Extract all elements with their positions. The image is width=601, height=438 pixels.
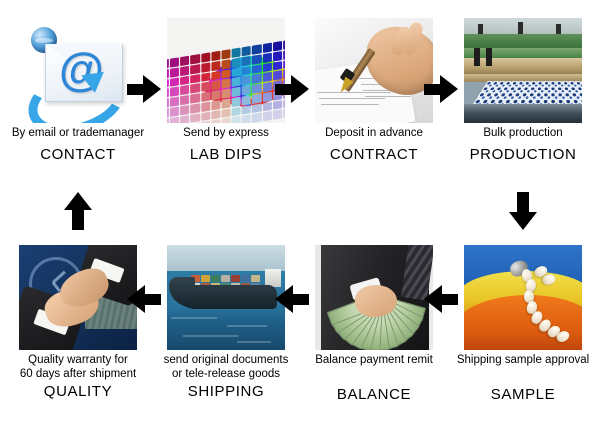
swatch-cell bbox=[242, 46, 251, 56]
swatch-cell bbox=[283, 39, 285, 49]
swatch-cell bbox=[180, 65, 189, 75]
step-caption: Bulk production bbox=[449, 127, 597, 141]
step-caption-line1: Quality warranty for bbox=[4, 354, 152, 368]
step-caption: Shipping sample approval bbox=[449, 354, 597, 368]
swatch-cell bbox=[232, 48, 241, 58]
swatch-cell bbox=[167, 69, 169, 79]
swatch-cell bbox=[221, 49, 230, 59]
swatch-cell bbox=[262, 101, 271, 111]
swatch-cell bbox=[170, 106, 179, 116]
swatch-cell bbox=[191, 54, 200, 64]
swatch-cell bbox=[191, 103, 200, 113]
swatch-cell bbox=[191, 93, 200, 103]
swatch-cell bbox=[170, 67, 179, 77]
swatch-cell bbox=[211, 119, 220, 123]
step-caption: By email or trademanager bbox=[4, 127, 152, 141]
color-swatch-fan-icon bbox=[167, 18, 285, 123]
hand-with-cash-icon bbox=[315, 245, 433, 350]
swatch-cell bbox=[252, 64, 261, 74]
swatch-cell bbox=[170, 57, 179, 67]
swatch-cell bbox=[180, 105, 189, 115]
swatch-cell bbox=[211, 100, 220, 110]
swatch-cell bbox=[242, 65, 251, 75]
swatch-cell bbox=[211, 51, 220, 61]
swatch-cell bbox=[201, 52, 210, 62]
machine-roller bbox=[464, 104, 582, 123]
swatch-cell bbox=[167, 59, 169, 69]
swatch-cell bbox=[232, 57, 241, 67]
swatch-cell bbox=[262, 62, 271, 72]
swatch-cell bbox=[232, 67, 241, 77]
swatch-cell bbox=[191, 113, 200, 123]
swatch-cell bbox=[221, 69, 230, 79]
swatch-cell bbox=[180, 85, 189, 95]
swatch-cell bbox=[252, 74, 261, 84]
swatch-cell bbox=[232, 106, 241, 116]
swatch-cell bbox=[252, 54, 261, 64]
step-sample[interactable]: Shipping sample approval SAMPLE bbox=[449, 245, 597, 403]
swatch-cell bbox=[221, 108, 230, 118]
swatch-cell bbox=[242, 114, 251, 123]
textile-printing-machine-icon bbox=[464, 18, 582, 123]
swatch-cell bbox=[180, 95, 189, 105]
swatch-cell bbox=[273, 61, 282, 71]
swatch-cell bbox=[170, 96, 179, 106]
swatch-cell bbox=[221, 98, 230, 108]
swatch-cell bbox=[211, 70, 220, 80]
step-title: SAMPLE bbox=[449, 386, 597, 403]
swatch-cell bbox=[232, 116, 241, 123]
swatch-cell bbox=[191, 83, 200, 93]
swatch-cell bbox=[201, 121, 210, 123]
swatch-cell bbox=[201, 101, 210, 111]
step-title: CONTRACT bbox=[300, 146, 448, 163]
step-title: SHIPPING bbox=[152, 383, 300, 400]
step-caption: Send by express bbox=[152, 127, 300, 141]
swatch-cell bbox=[211, 61, 220, 71]
orange-fabric bbox=[464, 295, 582, 350]
step-caption: Balance payment remit bbox=[300, 354, 448, 368]
step-caption-line2: 60 days after shipment bbox=[4, 368, 152, 382]
swatch-cell bbox=[170, 77, 179, 87]
swatch-cell bbox=[221, 118, 230, 123]
swatch-cell bbox=[283, 108, 285, 118]
process-flow-diagram: @ By email or trademanager CONTACT Send … bbox=[0, 0, 601, 438]
swatch-cell bbox=[252, 44, 261, 54]
swatch-cell bbox=[167, 118, 169, 123]
swatch-cell bbox=[242, 85, 251, 95]
swatch-cell bbox=[242, 56, 251, 66]
swatch-cell bbox=[232, 77, 241, 87]
step-balance[interactable]: Balance payment remit BALANCE bbox=[300, 245, 448, 403]
swatch-cell bbox=[262, 111, 271, 121]
arrow-quality-to-contact bbox=[64, 192, 92, 230]
swatch-cell bbox=[167, 88, 169, 98]
container-ship-icon bbox=[167, 245, 285, 350]
swatch-cell bbox=[211, 80, 220, 90]
swatch-cell bbox=[201, 62, 210, 72]
step-caption-line2: or tele-release goods bbox=[152, 368, 300, 382]
swatch-cell bbox=[262, 72, 271, 82]
swatch-cell bbox=[262, 52, 271, 62]
swatch-cell bbox=[262, 82, 271, 92]
step-title: LAB DIPS bbox=[152, 146, 300, 163]
step-title: QUALITY bbox=[4, 383, 152, 400]
step-quality[interactable]: Quality warranty for 60 days after shipm… bbox=[4, 245, 152, 400]
swatch-cell bbox=[221, 79, 230, 89]
swatch-cell bbox=[283, 59, 285, 69]
swatch-cell bbox=[211, 90, 220, 100]
swatch-cell bbox=[242, 105, 251, 115]
swatch-grid bbox=[167, 39, 285, 123]
swatch-cell bbox=[221, 88, 230, 98]
step-title: BALANCE bbox=[300, 386, 448, 403]
swatch-cell bbox=[180, 114, 189, 123]
swatch-cell bbox=[252, 103, 261, 113]
email-at-icon: @ bbox=[19, 18, 137, 123]
swatch-cell bbox=[283, 49, 285, 59]
step-shipping[interactable]: send original documents or tele-release … bbox=[152, 245, 300, 400]
swatch-cell bbox=[191, 64, 200, 74]
swatch-cell bbox=[170, 116, 179, 123]
swatch-cell bbox=[273, 51, 282, 61]
swatch-cell bbox=[191, 74, 200, 84]
swatch-cell bbox=[232, 97, 241, 107]
swatch-cell bbox=[262, 43, 271, 53]
swatch-cell bbox=[201, 72, 210, 82]
swatch-cell bbox=[167, 78, 169, 88]
signing-document-icon bbox=[315, 18, 433, 123]
step-title: CONTACT bbox=[4, 146, 152, 163]
arrow-production-to-sample bbox=[509, 192, 537, 230]
swatch-cell bbox=[221, 59, 230, 69]
swatch-cell bbox=[167, 98, 169, 108]
swatch-cell bbox=[232, 87, 241, 97]
swatch-cell bbox=[262, 92, 271, 102]
swatch-cell bbox=[252, 113, 261, 123]
fabric-shell-necklace-icon bbox=[464, 245, 582, 350]
handshake-clock-icon bbox=[19, 245, 137, 350]
step-caption-line1: send original documents bbox=[152, 354, 300, 368]
swatch-cell bbox=[252, 93, 261, 103]
swatch-cell bbox=[180, 75, 189, 85]
swatch-cell bbox=[167, 108, 169, 118]
swatch-cell bbox=[273, 110, 282, 120]
swatch-cell bbox=[242, 95, 251, 105]
swatch-cell bbox=[170, 87, 179, 97]
swatch-cell bbox=[201, 111, 210, 121]
swatch-cell bbox=[180, 56, 189, 66]
step-title: PRODUCTION bbox=[449, 146, 597, 163]
swatch-cell bbox=[201, 92, 210, 102]
swatch-cell bbox=[273, 41, 282, 51]
swatch-cell bbox=[252, 83, 261, 93]
swatch-cell bbox=[242, 75, 251, 85]
step-caption: Deposit in advance bbox=[300, 127, 448, 141]
swatch-cell bbox=[201, 82, 210, 92]
step-production[interactable]: Bulk production PRODUCTION bbox=[449, 18, 597, 163]
swatch-cell bbox=[211, 110, 220, 120]
